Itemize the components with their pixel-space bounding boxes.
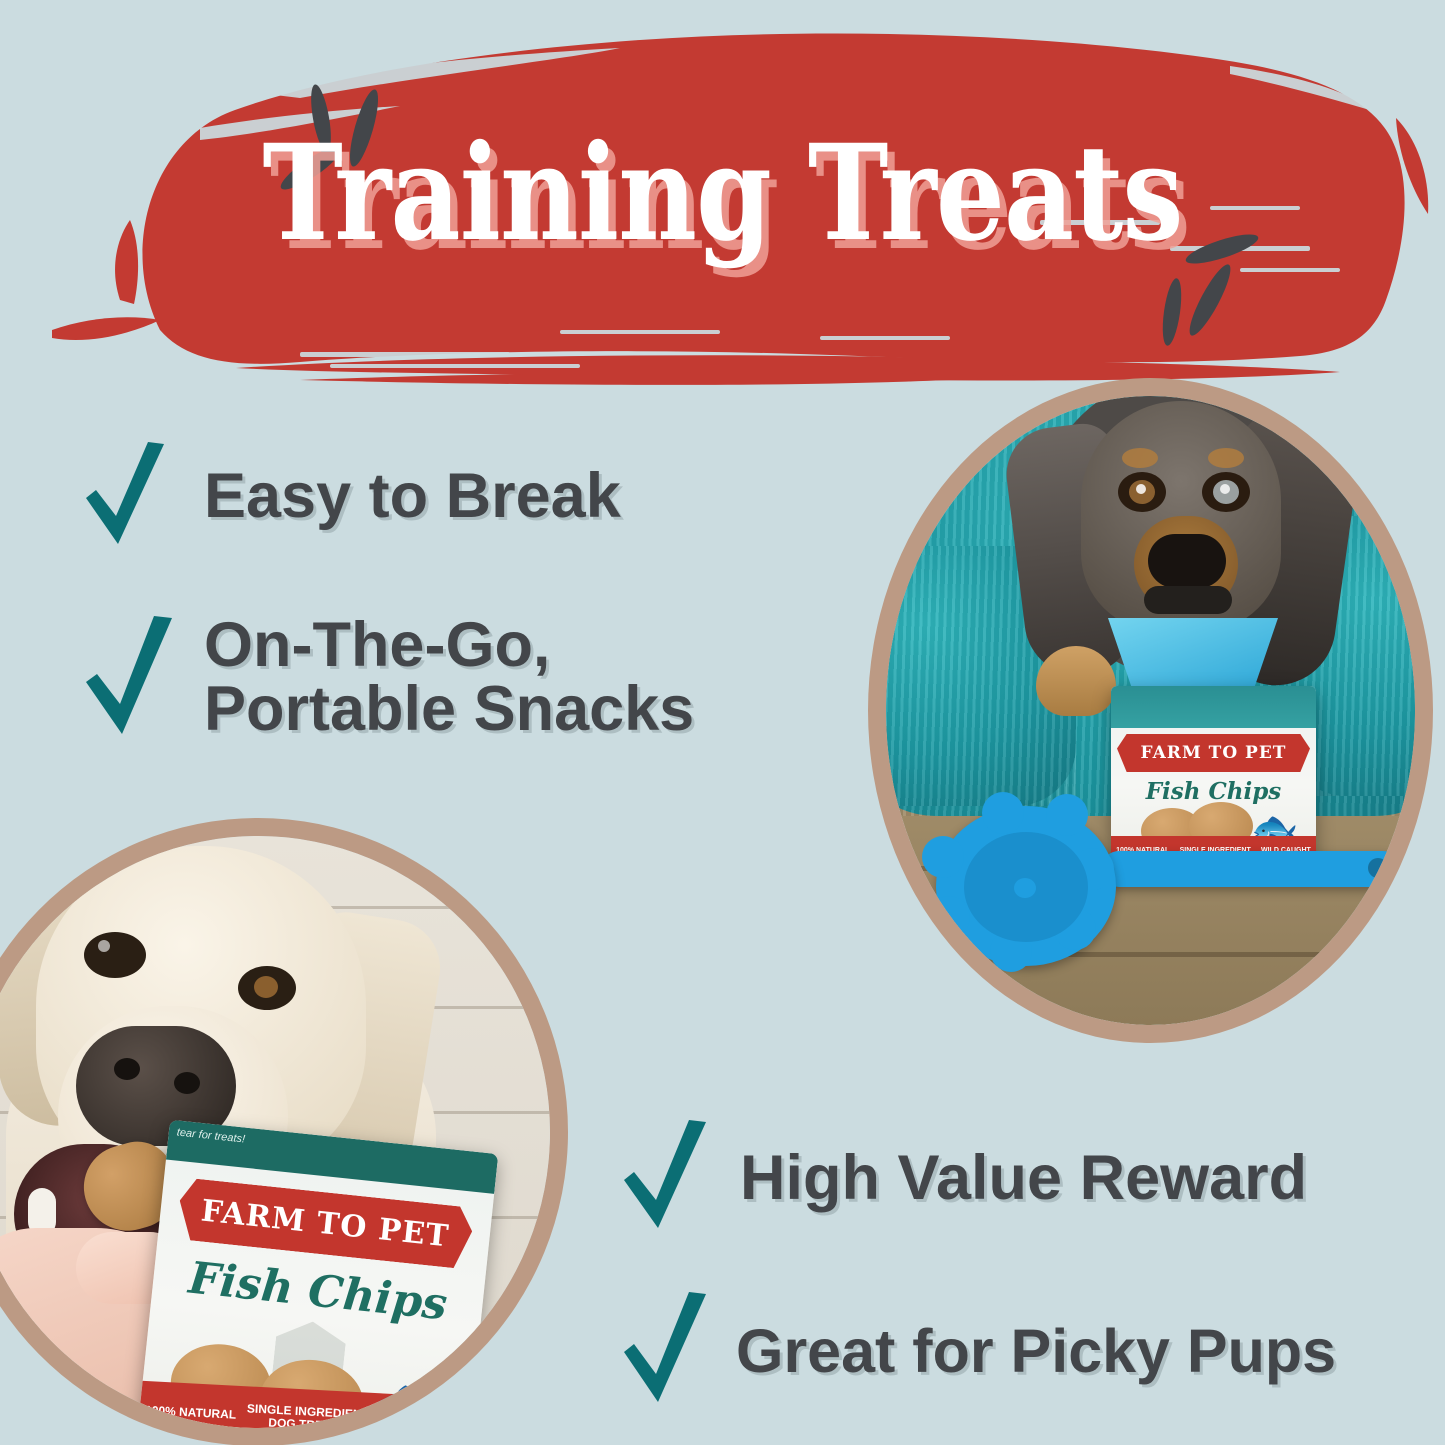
header-banner: Training Treats — [0, 0, 1445, 390]
feature-label: On-The-Go, Portable Snacks — [204, 613, 694, 742]
pouch-flavor: Fish Chips — [1111, 778, 1316, 805]
check-icon — [616, 1292, 712, 1410]
pouch-claim-natural: 100% NATURAL — [145, 1404, 237, 1421]
product-pouch: tear for treats! FARM TO PET Fish Chips … — [136, 1120, 499, 1428]
check-icon — [616, 1120, 712, 1236]
pouch-brand-banner: FARM TO PET — [1117, 734, 1310, 772]
feature-label: Easy to Break — [204, 464, 621, 528]
feature-item-on-the-go: On-The-Go, Portable Snacks — [78, 612, 694, 742]
photo-golden-retriever-with-pouch: tear for treats! FARM TO PET Fish Chips … — [0, 818, 568, 1445]
feature-item-picky-pups: Great for Picky Pups — [616, 1292, 1336, 1410]
photo-dachshund-with-pouch: FARM TO PET Fish Chips 🐟 100% NATURAL SI… — [868, 378, 1433, 1043]
page-title: Training Treats — [130, 128, 1315, 260]
check-icon — [78, 440, 170, 552]
check-icon — [78, 612, 178, 742]
pouch-brand: FARM TO PET — [1141, 743, 1287, 763]
feature-label: High Value Reward — [740, 1146, 1307, 1210]
pouch-claim-single: SINGLE INGREDIENT DOG TREATS — [246, 1403, 369, 1428]
infographic-canvas: Training Treats Easy to Break On-The-Go,… — [0, 0, 1445, 1445]
pouch-brand: FARM TO PET — [199, 1193, 450, 1254]
feature-item-high-value: High Value Reward — [616, 1120, 1307, 1236]
pouch-claim-wild: WILD CAUGHT — [379, 1416, 465, 1428]
feature-item-easy-to-break: Easy to Break — [78, 440, 621, 552]
feature-label: Great for Picky Pups — [736, 1320, 1336, 1382]
product-pouch: FARM TO PET Fish Chips 🐟 100% NATURAL SI… — [1111, 686, 1316, 866]
